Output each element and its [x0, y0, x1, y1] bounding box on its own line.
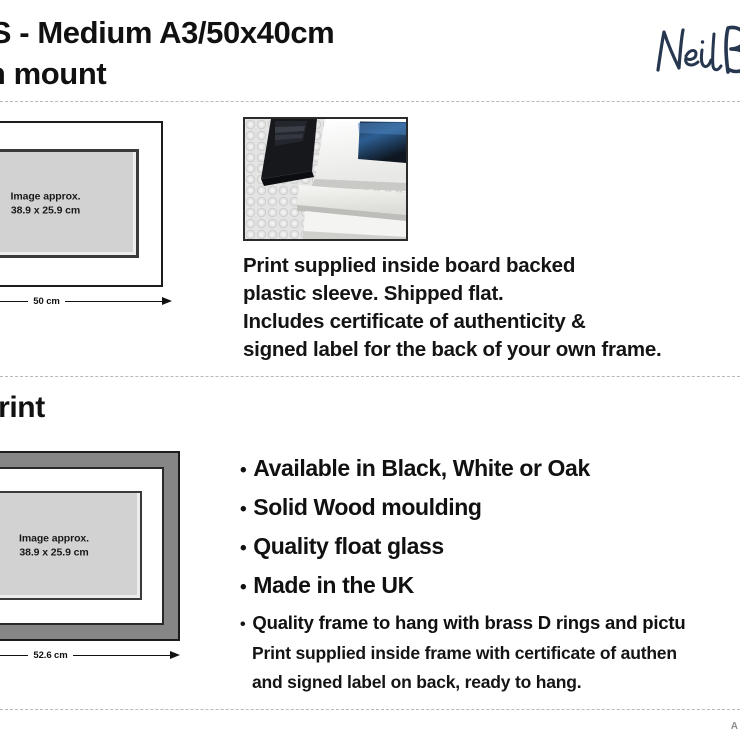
packaging-photo — [243, 117, 408, 241]
list-item-label: Solid Wood moulding — [253, 489, 481, 526]
dimension-bar-right — [65, 301, 163, 302]
corner-mark: A — [731, 721, 738, 732]
bullet-icon: • — [240, 608, 245, 642]
brand-logo: N — [646, 16, 740, 86]
frame-dimension-label: 52.6 cm — [28, 650, 72, 661]
mounted-print-description: Print supplied inside board backed plast… — [243, 252, 740, 364]
dimension-arrowhead-icon — [162, 297, 172, 305]
page-title: ONS - Medium A3/50x40cm with mount — [0, 12, 505, 94]
dimension-arrowhead-icon — [170, 651, 180, 659]
divider-bottom — [0, 709, 740, 711]
mount-width-dimension: 50 cm — [0, 294, 172, 308]
dimension-bar-left — [0, 301, 28, 302]
bullet-icon: • — [240, 569, 246, 606]
packaging-photo-image — [245, 119, 406, 239]
bullet-icon: • — [240, 491, 246, 528]
divider-top — [0, 101, 740, 103]
list-item-label: Quality frame to hang with brass D rings… — [252, 606, 685, 640]
list-item: • Solid Wood moulding — [240, 489, 740, 528]
list-item: • Quality frame to hang with brass D rin… — [240, 606, 740, 642]
frame-feature-list: • Available in Black, White or Oak • Sol… — [240, 450, 740, 642]
divider-middle — [0, 376, 740, 378]
mount-aperture: Image approx. 38.9 x 25.9 cm — [0, 149, 139, 258]
list-item-label: Available in Black, White or Oak — [253, 450, 590, 487]
signature-logo-icon — [646, 16, 740, 86]
bullet-icon: • — [240, 452, 246, 489]
frame-diagram: Image approx. 38.9 x 25.9 cm — [0, 451, 180, 641]
bullet-icon: • — [240, 530, 246, 567]
frame-mount: Image approx. 38.9 x 25.9 cm — [0, 467, 164, 625]
mount-dimension-label: 50 cm — [28, 296, 64, 307]
list-item: • Made in the UK — [240, 567, 740, 606]
mount-diagram: Image approx. 38.9 x 25.9 cm — [0, 121, 163, 287]
framed-print-heading: ed print — [0, 391, 45, 425]
dimension-bar-left — [0, 655, 28, 656]
list-item-label: Made in the UK — [253, 567, 414, 604]
frame-width-dimension: 52.6 cm — [0, 648, 180, 662]
frame-image-size-label: Image approx. 38.9 x 25.9 cm — [0, 531, 140, 559]
list-item-label: Quality float glass — [253, 528, 444, 565]
frame-aperture: Image approx. 38.9 x 25.9 cm — [0, 491, 142, 600]
mount-image-size-label: Image approx. 38.9 x 25.9 cm — [0, 189, 136, 217]
dimension-bar-right — [73, 655, 171, 656]
list-item: • Quality float glass — [240, 528, 740, 567]
framed-print-footnote: Print supplied inside frame with certifi… — [252, 639, 740, 697]
list-item: • Available in Black, White or Oak — [240, 450, 740, 489]
